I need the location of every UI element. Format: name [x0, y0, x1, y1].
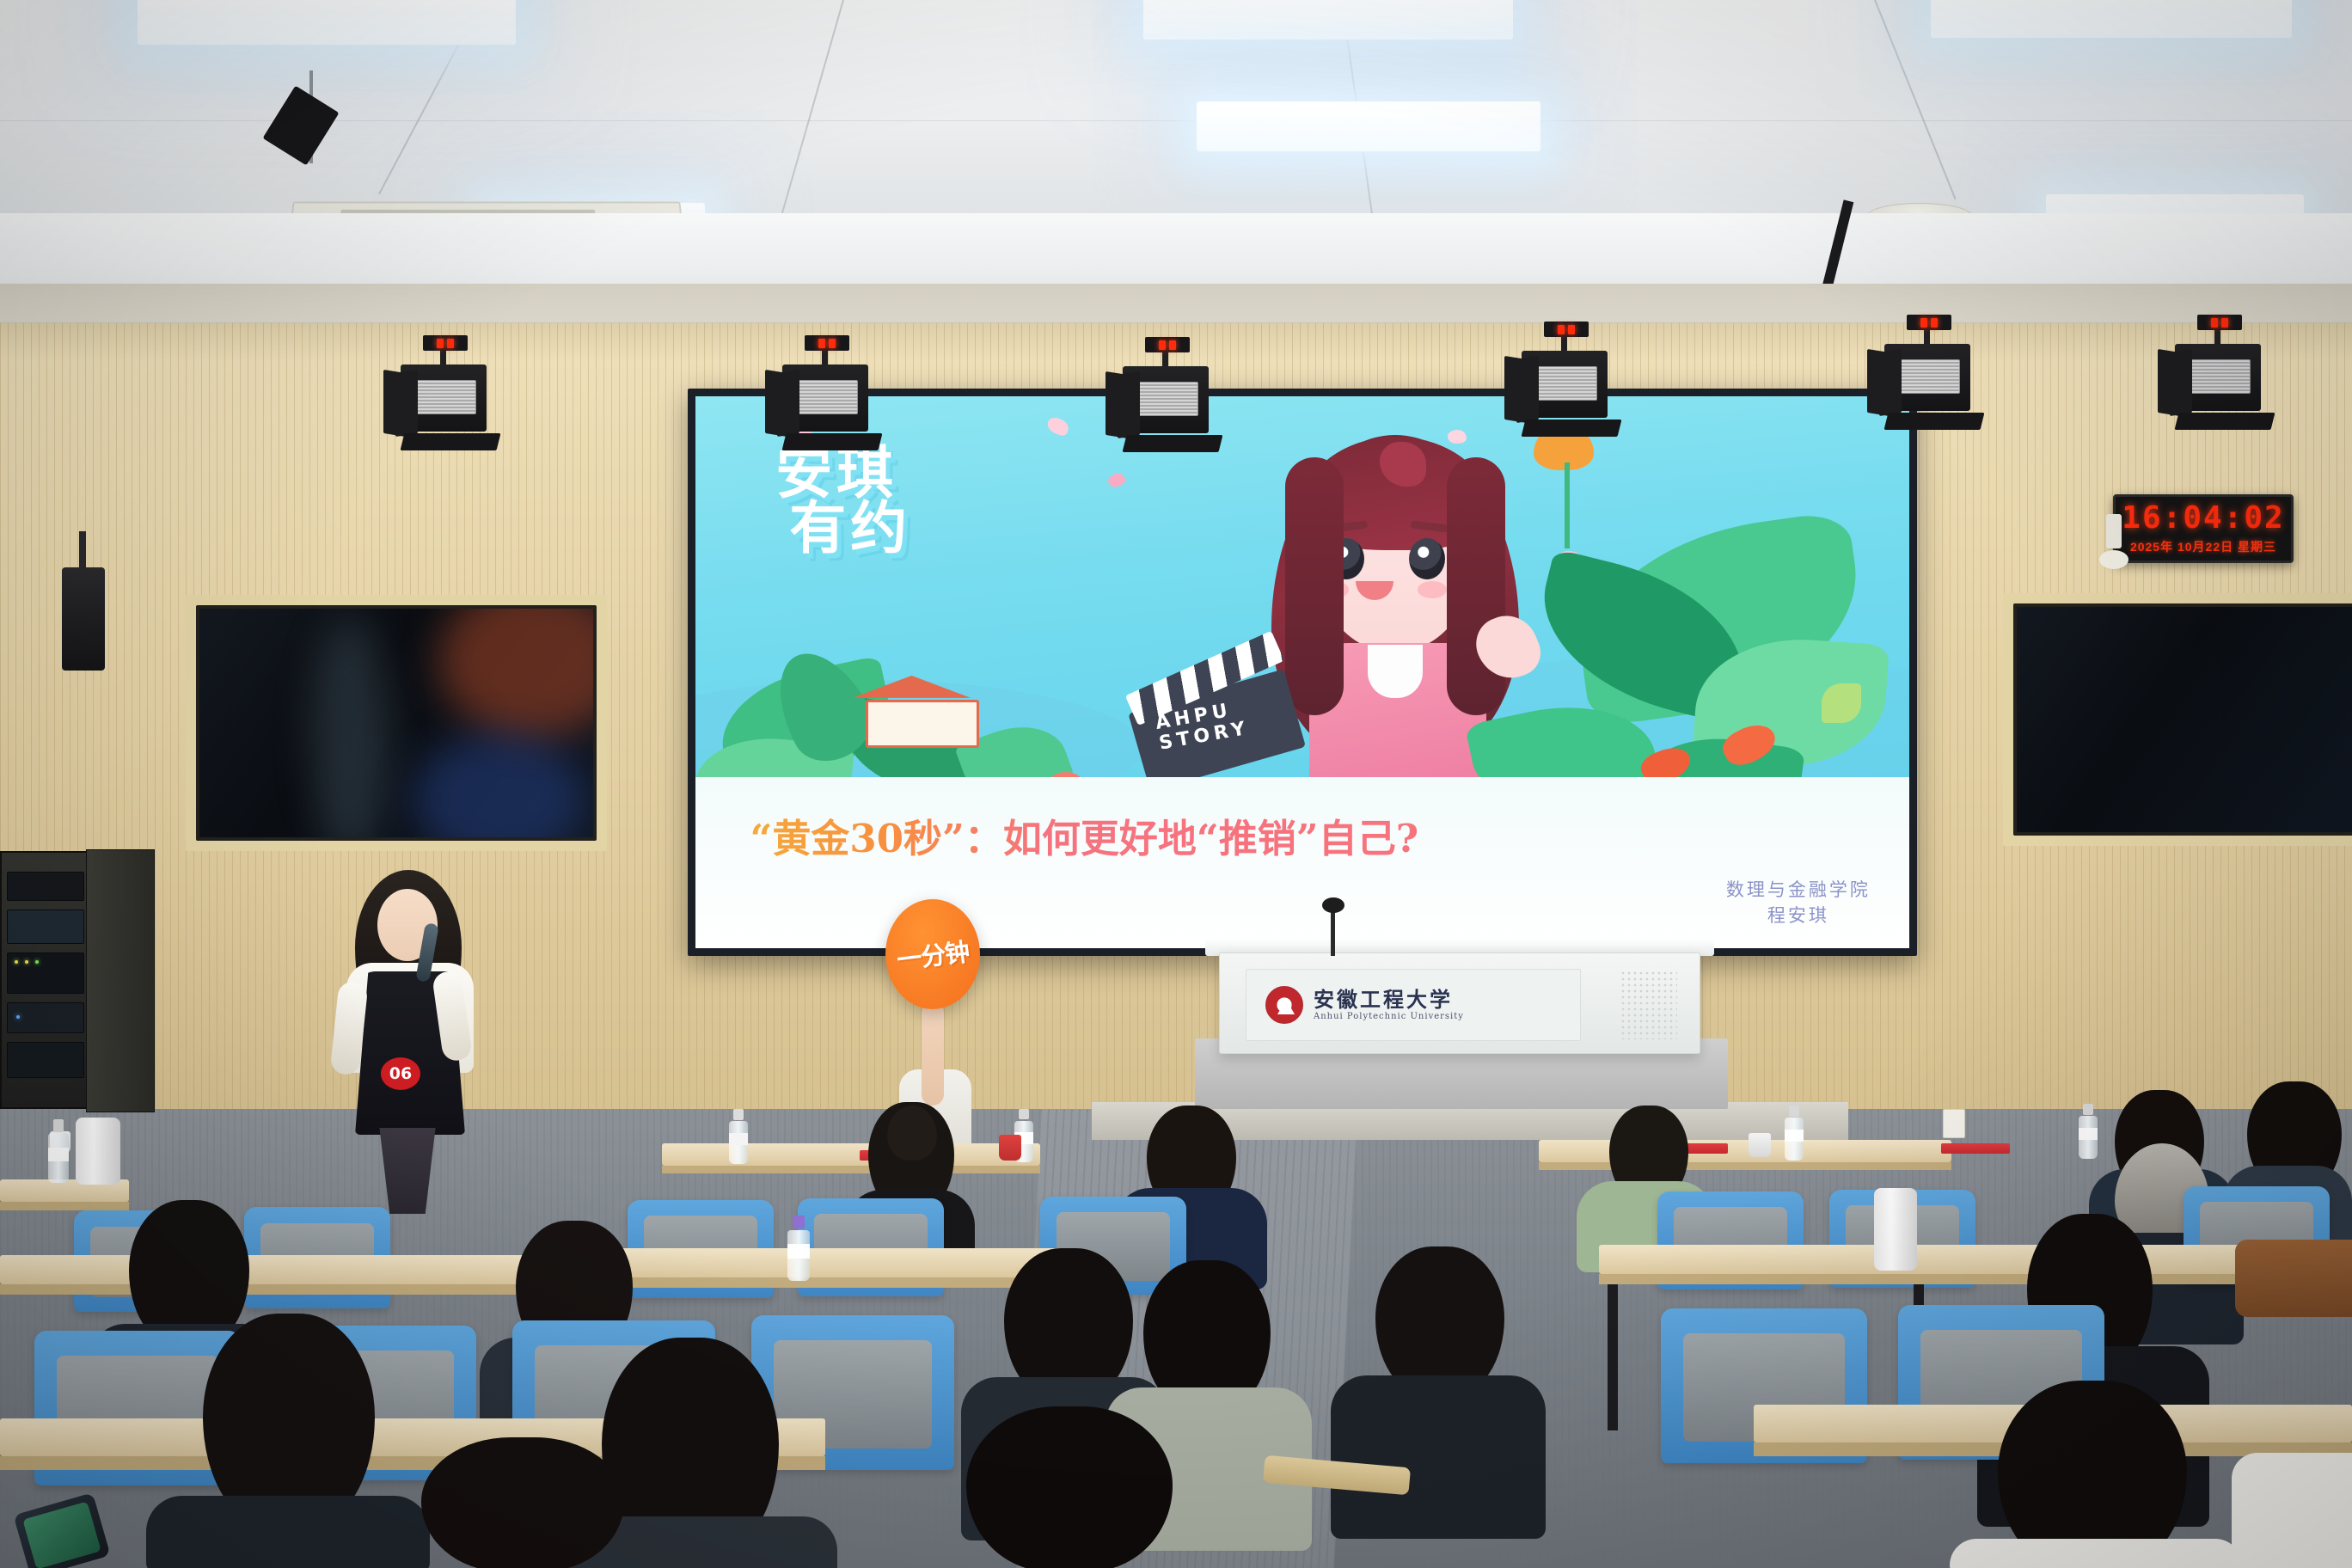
- slide-headline: “黄金30秒”：如何更好地“推销”自己?: [750, 807, 1419, 863]
- studio-light-indicator-4: [1544, 322, 1589, 337]
- water-bottle: [1785, 1106, 1804, 1161]
- timer-sign-label: 一分钟: [895, 932, 971, 977]
- water-bottle: [787, 1216, 810, 1281]
- slide-credit-department: 数理与金融学院: [1726, 877, 1871, 903]
- clock-time: 16:04:02: [2122, 503, 2284, 534]
- left-monitor-screen[interactable]: [196, 605, 597, 841]
- audience-head: [421, 1437, 624, 1568]
- podium-university-name-cn: 安徽工程大学: [1314, 988, 1464, 1012]
- desk-row-mid-left: [0, 1255, 550, 1284]
- lecture-hall-scene: 16:04:02 2025年 10月22日 星期三 安琪 有约: [0, 0, 2352, 1568]
- coat-on-chair: [2235, 1240, 2352, 1317]
- desk-row-back-left: [662, 1143, 1040, 1166]
- water-bottle: [48, 1119, 69, 1183]
- audience-head: [887, 1106, 937, 1161]
- slide-credit: 数理与金融学院 程安琪: [1726, 877, 1871, 929]
- smartphone-screen[interactable]: [22, 1501, 101, 1568]
- one-minute-timer-sign[interactable]: 一分钟: [885, 899, 980, 1009]
- speaker-mount-bracket: [79, 531, 86, 571]
- signholder-arm: [922, 1002, 944, 1106]
- slide-credit-speaker: 程安琪: [1726, 903, 1871, 928]
- projection-screen[interactable]: 安琪 有约: [688, 389, 1917, 956]
- podium-university-name-en: Anhui Polytechnic University: [1314, 1012, 1464, 1022]
- red-paper-cup: [999, 1135, 1021, 1161]
- clock-date: 2025年 10月22日 星期三: [2130, 538, 2276, 555]
- contestant-number-badge: 06: [381, 1057, 420, 1090]
- podium-front-panel: 安徽工程大学 Anhui Polytechnic University: [1246, 969, 1581, 1041]
- leaf-icon: [1822, 683, 1861, 723]
- audience-torso: [2232, 1453, 2352, 1568]
- red-card-item: [1941, 1143, 2010, 1154]
- podium-microphone: [1322, 897, 1344, 913]
- desk-row-mid-center: [602, 1248, 1066, 1277]
- paper-cup: [1749, 1133, 1771, 1157]
- audience-head: [966, 1406, 1173, 1568]
- audience-head: [1375, 1246, 1504, 1396]
- digital-wall-clock: 16:04:02 2025年 10月22日 星期三: [2113, 494, 2294, 563]
- podium-mic-stand: [1331, 908, 1335, 956]
- studio-light-indicator-2: [805, 335, 849, 351]
- ceiling-light-panel: [1143, 0, 1513, 40]
- wall-speaker: [62, 567, 105, 671]
- motion-sensor-icon: [2099, 550, 2128, 569]
- audience-torso: [1950, 1539, 2242, 1568]
- character-eye: [1409, 538, 1445, 579]
- slide-logo-line2: 有约: [775, 501, 911, 557]
- ceiling-light-panel: [138, 0, 516, 45]
- right-wall-monitor[interactable]: [2003, 593, 2352, 846]
- water-bottle: [729, 1109, 748, 1164]
- ceiling-light-panel: [1931, 0, 2292, 38]
- studio-light-indicator-1: [423, 335, 468, 351]
- right-monitor-screen[interactable]: [2013, 603, 2352, 836]
- flower-stem-icon: [1565, 462, 1570, 548]
- ceiling-light-panel: [1197, 101, 1540, 151]
- thermos-flask: [1874, 1188, 1917, 1271]
- presenter-legs: [376, 1128, 439, 1214]
- desk-row-back-right: [1539, 1140, 1951, 1162]
- studio-light-indicator-6: [2197, 315, 2242, 330]
- thermos-flask: [76, 1118, 120, 1185]
- audience-torso: [1331, 1375, 1546, 1539]
- rack-door-panel[interactable]: [86, 849, 155, 1112]
- house-illustration-icon: [866, 700, 979, 748]
- studio-light-indicator-3: [1145, 337, 1190, 352]
- clock-side-sensor: [2106, 514, 2122, 548]
- water-bottle: [2079, 1104, 2098, 1159]
- wall-power-outlet: [1943, 1109, 1965, 1138]
- studio-light-indicator-5: [1907, 315, 1951, 330]
- presentation-slide: 安琪 有约: [695, 396, 1909, 948]
- left-wall-monitor[interactable]: [186, 595, 607, 851]
- podium-speaker-grille: [1620, 971, 1677, 1039]
- presenter-speaker: 06: [331, 870, 494, 1214]
- slide-program-logo: 安琪 有约: [775, 446, 911, 557]
- university-seal-icon: [1265, 986, 1303, 1024]
- audience-torso: [146, 1496, 430, 1568]
- lectern-podium[interactable]: 安徽工程大学 Anhui Polytechnic University: [1219, 952, 1700, 1054]
